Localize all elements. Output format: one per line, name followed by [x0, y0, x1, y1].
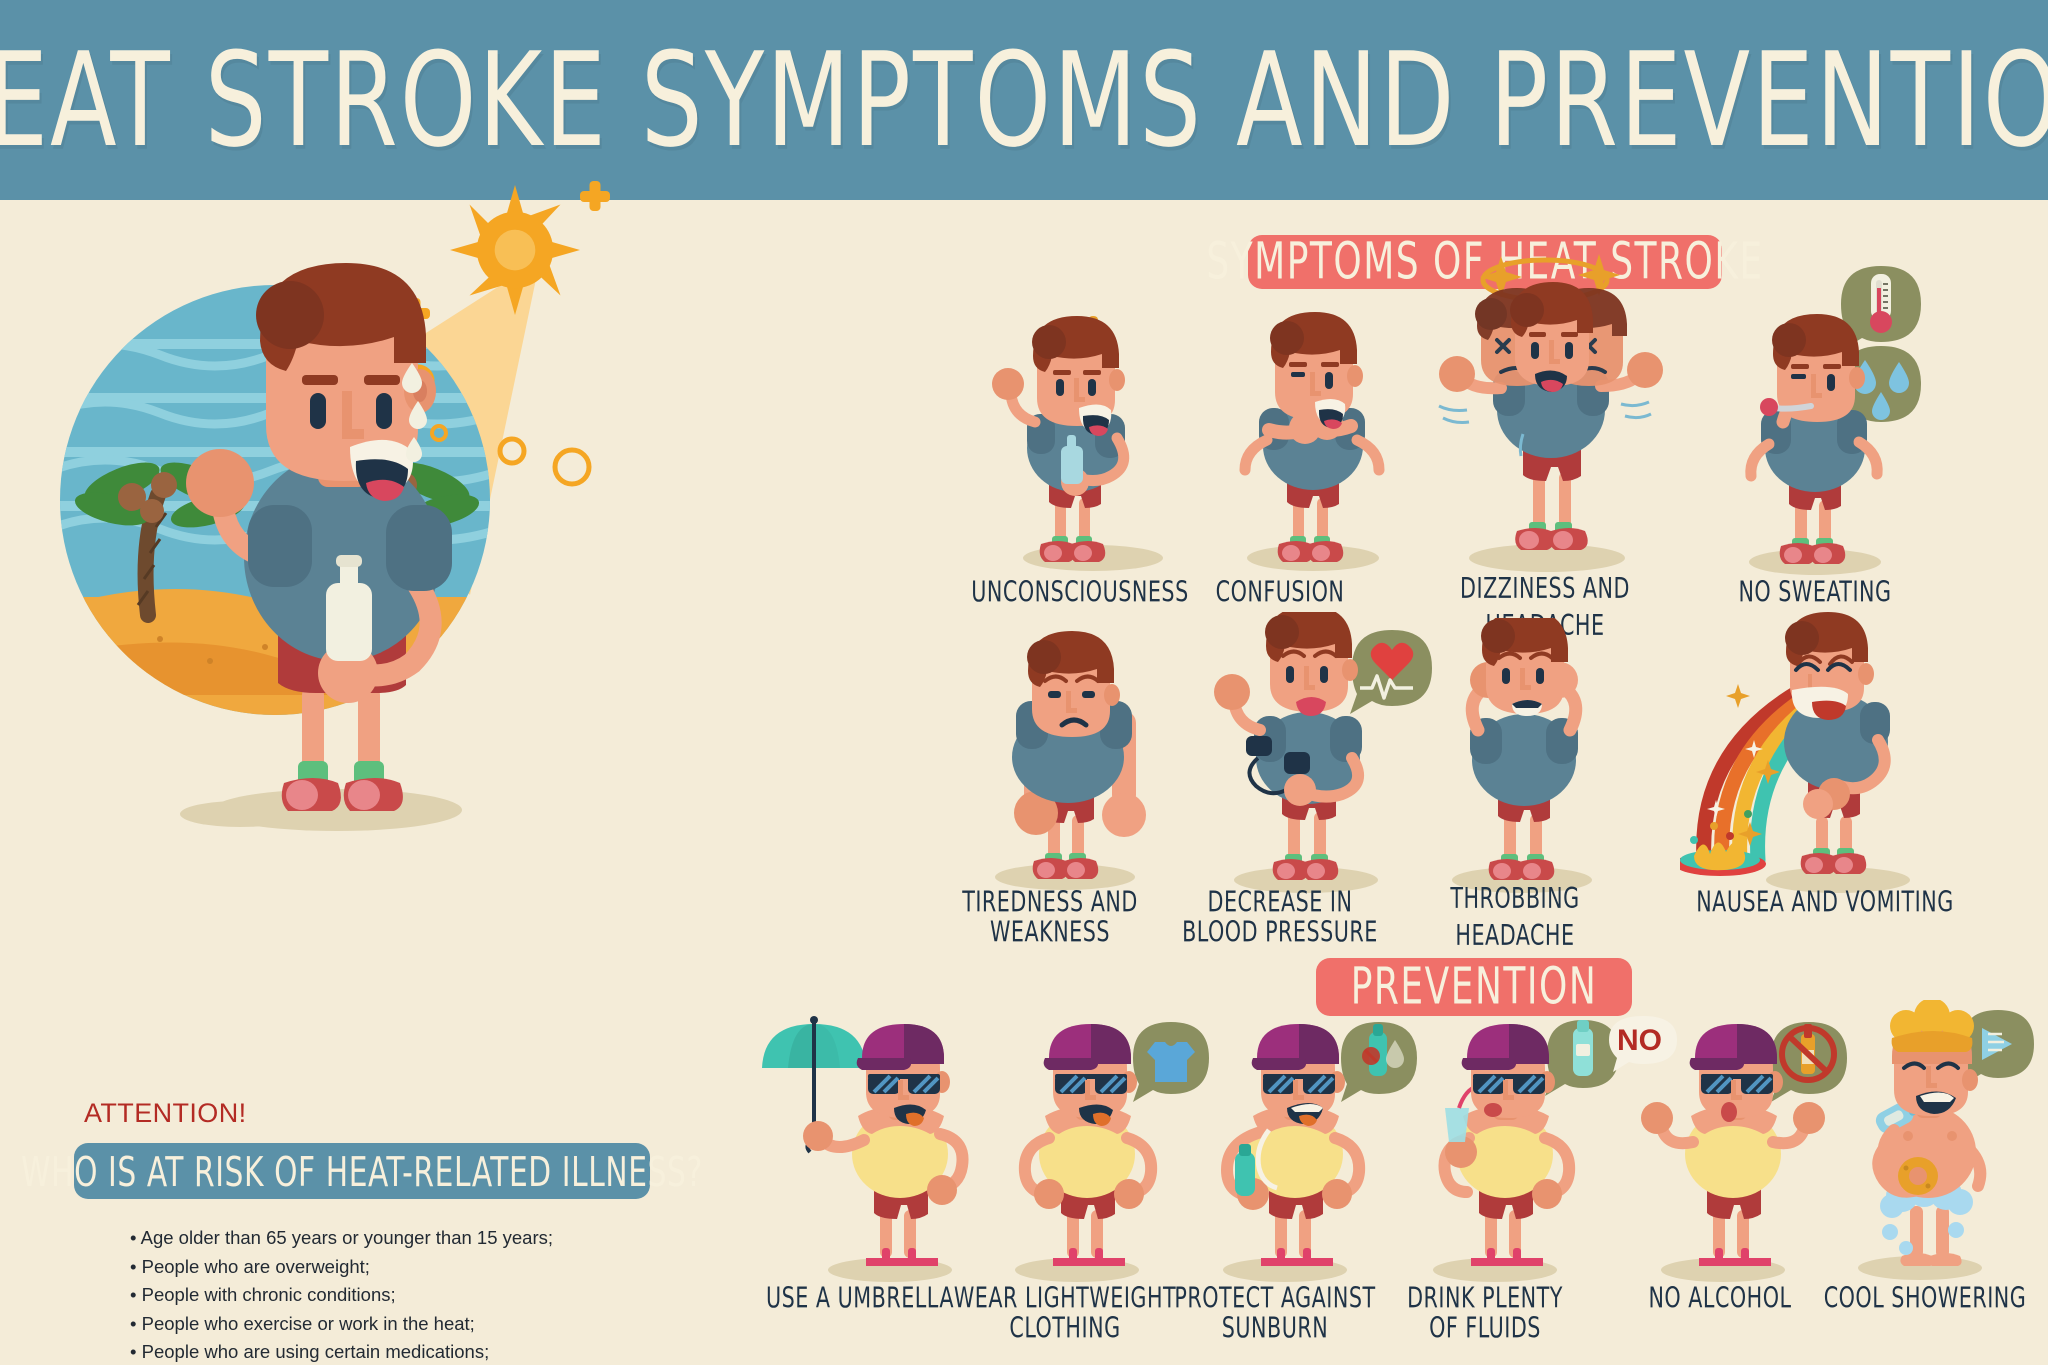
confused-person-icon — [1205, 300, 1425, 575]
triple-head-spin-icon — [1405, 228, 1685, 578]
list-item: People who are using certain medications… — [130, 1338, 730, 1365]
prevention-banner-label: PREVENTION — [1351, 958, 1598, 1017]
prevention-label-cool-showering: COOL SHOWERING — [1810, 1284, 2040, 1314]
risk-list: Age older than 65 years or younger than … — [130, 1224, 730, 1365]
risk-question-pill: WHO IS AT RISK OF HEAT-RELATED ILLNESS? — [74, 1143, 650, 1199]
symptom-label-throbbing-headache: THROBBING HEADACHE — [1395, 888, 1635, 948]
head-clutch-person-icon — [1400, 618, 1650, 898]
dizzy-person-icon: ? ? ? — [975, 300, 1205, 575]
page-title: HEAT STROKE SYMPTOMS AND PREVENTION — [0, 24, 2048, 177]
hero-illustration — [40, 165, 700, 865]
list-item: Age older than 65 years or younger than … — [130, 1224, 730, 1253]
symptom-label-no-sweating: NO SWEATING — [1690, 578, 1940, 608]
attention-heading: ATTENTION! — [84, 1098, 247, 1129]
symptom-label-tiredness: TIREDNESS AND WEAKNESS — [930, 888, 1170, 948]
risk-question-label: WHO IS AT RISK OF HEAT-RELATED ILLNESS? — [21, 1147, 703, 1195]
rainbow-vomit-person-icon — [1680, 612, 1970, 902]
thermometer-person-icon — [1705, 248, 1955, 578]
symptom-label-confusion: CONFUSION — [1170, 578, 1390, 608]
infographic-page: HEAT STROKE SYMPTOMS AND PREVENTION — [0, 0, 2048, 1365]
list-item: People who are overweight; — [130, 1253, 730, 1282]
prevention-label-no-alcohol: NO ALCOHOL — [1610, 1284, 1830, 1314]
symptom-label-nausea: NAUSEA AND VOMITING — [1680, 888, 1970, 918]
umbrella-person-icon — [762, 1012, 992, 1287]
slumped-person-icon — [950, 625, 1180, 895]
no-speech-text: NO — [1617, 1024, 1662, 1057]
prevention-label-fluids: DRINK PLENTY OF FLUIDS — [1370, 1284, 1600, 1344]
prevention-label-sunburn: PROTECT AGAINST SUNBURN — [1150, 1284, 1400, 1344]
symptom-label-blood-pressure: DECREASE IN BLOOD PRESSURE — [1165, 888, 1395, 948]
showering-person-icon — [1810, 1000, 2048, 1290]
list-item: People who exercise or work in the heat; — [130, 1310, 730, 1339]
sweating-man-icon — [150, 165, 550, 865]
prevention-banner: PREVENTION — [1316, 958, 1632, 1016]
list-item: People with chronic conditions; — [130, 1281, 730, 1310]
